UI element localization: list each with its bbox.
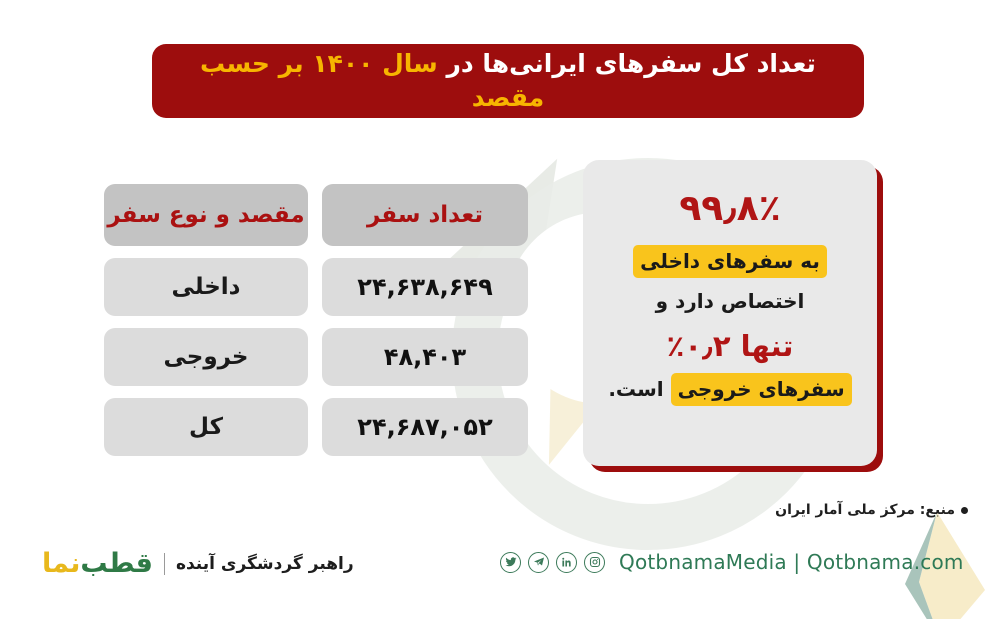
callout-percent-outbound: تنها ۰٫۲٪ — [667, 329, 794, 363]
table-header-category: مقصد و نوع سفر — [104, 184, 308, 246]
footer-social-bar: QotbnamaMedia | Qotbnama.com — [500, 550, 964, 574]
trip-count-total: ۲۴,۶۸۷,۰۵۲ — [357, 413, 492, 441]
trip-category-domestic: داخلی — [172, 274, 241, 300]
trip-count-domestic: ۲۴,۶۳۸,۶۴۹ — [357, 273, 492, 301]
trips-table: تعداد سفر مقصد و نوع سفر ۲۴,۶۳۸,۶۴۹ داخل… — [104, 184, 528, 468]
table-header-row: تعداد سفر مقصد و نوع سفر — [104, 184, 528, 246]
callout-line-2: اختصاص دارد و — [656, 287, 805, 316]
title-banner: تعداد کل سفرهای ایرانی‌ها در سال ۱۴۰۰ بر… — [152, 44, 864, 118]
callout-highlight-outbound: سفرهای خروجی — [671, 373, 852, 406]
table-cell-category: داخلی — [104, 258, 308, 316]
title-segment-main: تعداد کل سفرهای ایرانی‌ها در — [446, 49, 815, 78]
page-title: تعداد کل سفرهای ایرانی‌ها در سال ۱۴۰۰ بر… — [170, 47, 846, 115]
qotbnama-logo[interactable]: قطبنما — [42, 548, 153, 579]
logo-text-qotb: قطب — [80, 548, 153, 579]
trip-category-total: کل — [189, 414, 223, 440]
callout-line-1: به سفرهای داخلی — [633, 245, 827, 278]
table-cell-value: ۲۴,۶۳۸,۶۴۹ — [322, 258, 528, 316]
callout-highlight-domestic: به سفرهای داخلی — [633, 245, 827, 278]
logo-text-nama: نما — [42, 548, 80, 579]
table-header-value-label: تعداد سفر — [367, 202, 483, 228]
table-cell-category: کل — [104, 398, 308, 456]
table-row: ۲۴,۶۳۸,۶۴۹ داخلی — [104, 258, 528, 316]
bullet-icon — [961, 507, 968, 514]
instagram-icon[interactable] — [584, 552, 605, 573]
callout-line-3: سفرهای خروجی است. — [608, 373, 851, 406]
table-cell-value: ۲۴,۶۸۷,۰۵۲ — [322, 398, 528, 456]
table-cell-category: خروجی — [104, 328, 308, 386]
footer-handle-text[interactable]: QotbnamaMedia | Qotbnama.com — [619, 550, 964, 574]
callout-line-3-suffix: است. — [608, 377, 663, 401]
brand-block: قطبنما راهبر گردشگری آینده — [42, 548, 354, 579]
table-row: ۴۸,۴۰۳ خروجی — [104, 328, 528, 386]
callout-percent-domestic: ۹۹٫۸٪ — [679, 188, 780, 229]
table-row: ۲۴,۶۸۷,۰۵۲ کل — [104, 398, 528, 456]
trip-category-outbound: خروجی — [163, 344, 248, 370]
linkedin-icon[interactable] — [556, 552, 577, 573]
table-header-category-label: مقصد و نوع سفر — [107, 202, 304, 228]
brand-divider — [164, 553, 165, 575]
table-cell-value: ۴۸,۴۰۳ — [322, 328, 528, 386]
twitter-icon[interactable] — [500, 552, 521, 573]
infographic-canvas: تعداد کل سفرهای ایرانی‌ها در سال ۱۴۰۰ بر… — [0, 0, 1000, 619]
trip-count-outbound: ۴۸,۴۰۳ — [384, 343, 466, 371]
title-segment-year: سال ۱۴۰۰ — [312, 49, 437, 78]
source-note: منبع: مرکز ملی آمار ایران — [775, 502, 968, 518]
source-text: منبع: مرکز ملی آمار ایران — [775, 502, 955, 518]
callout-card: ۹۹٫۸٪ به سفرهای داخلی اختصاص دارد و تنها… — [583, 160, 877, 466]
table-header-value: تعداد سفر — [322, 184, 528, 246]
brand-tagline: راهبر گردشگری آینده — [176, 554, 354, 574]
telegram-icon[interactable] — [528, 552, 549, 573]
